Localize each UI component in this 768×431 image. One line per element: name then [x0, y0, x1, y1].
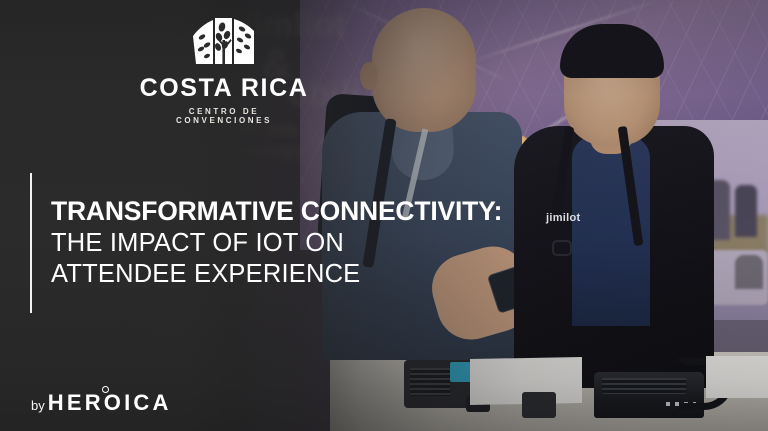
event-banner: jimliot & obili cecom hnology jimilot	[0, 0, 768, 431]
credit-prefix: by	[31, 398, 45, 413]
headline-line-3: ATTENDEE EXPERIENCE	[51, 259, 502, 290]
headline-block: TRANSFORMATIVE CONNECTIVITY: THE IMPACT …	[51, 198, 502, 291]
venue-logo-name: COSTA RICA	[139, 76, 309, 101]
venue-logo-subtitle: CENTRO DE CONVENCIONES	[139, 107, 309, 125]
headline-line-1: TRANSFORMATIVE CONNECTIVITY:	[51, 198, 502, 225]
headline-line-2: THE IMPACT OF IOT ON	[51, 228, 502, 259]
credit-brand: HEROICA	[48, 390, 172, 416]
costa-rica-tree-fan-emblem	[189, 14, 259, 70]
headline-accent-rule	[30, 173, 32, 313]
credit-brand-text: HEROICA	[48, 390, 172, 415]
venue-logo: COSTA RICA CENTRO DE CONVENCIONES	[139, 14, 309, 125]
credit-logo: by HEROICA	[31, 390, 172, 416]
